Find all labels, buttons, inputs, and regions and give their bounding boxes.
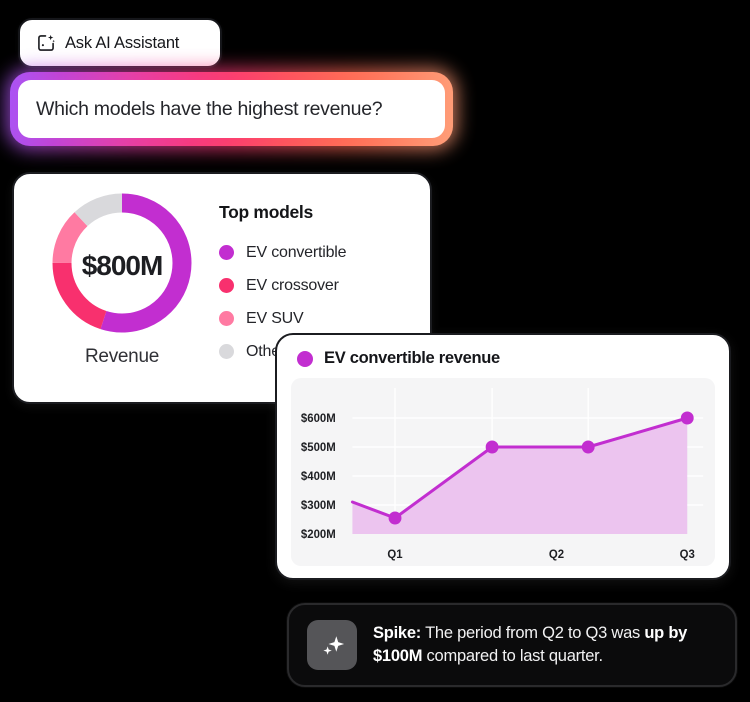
line-chart-header: EV convertible revenue xyxy=(291,349,715,368)
donut-center-value: $800M xyxy=(47,250,197,282)
screenshot-stage: Ask AI Assistant Which models have the h… xyxy=(0,0,750,702)
ai-question-input[interactable]: Which models have the highest revenue? xyxy=(18,80,445,138)
legend-swatch-icon xyxy=(219,245,234,260)
series-swatch-icon xyxy=(297,351,313,367)
ai-question-input-value[interactable]: Which models have the highest revenue? xyxy=(36,98,382,121)
data-point xyxy=(486,441,499,454)
legend-title: Top models xyxy=(219,202,419,223)
data-point xyxy=(681,412,694,425)
line-chart-title: EV convertible revenue xyxy=(324,349,500,368)
ev-convertible-revenue-card: EV convertible revenue xyxy=(275,333,731,580)
x-tick-label: Q2 xyxy=(549,549,564,561)
y-tick-label: $500M xyxy=(301,442,336,454)
x-tick-label: Q3 xyxy=(680,549,695,561)
data-point xyxy=(582,441,595,454)
legend-item-ev-suv[interactable]: EV SUV xyxy=(219,302,419,335)
y-tick-label: $400M xyxy=(301,471,336,483)
revenue-area-chart: $600M $500M $400M $300M $200M Q1 Q2 Q3 xyxy=(291,378,715,566)
donut-caption: Revenue xyxy=(32,346,212,368)
legend-item-ev-crossover[interactable]: EV crossover xyxy=(219,269,419,302)
legend-item-ev-convertible[interactable]: EV convertible xyxy=(219,236,419,269)
legend-swatch-icon xyxy=(219,278,234,293)
legend-swatch-icon xyxy=(219,344,234,359)
sparkle-square-icon xyxy=(36,33,56,53)
insight-text-part1: The period from Q2 to Q3 was xyxy=(421,624,644,642)
y-tick-label: $200M xyxy=(301,529,336,541)
insight-message: Spike: The period from Q2 to Q3 was up b… xyxy=(373,622,717,669)
legend-label: EV SUV xyxy=(246,310,304,328)
insight-label: Spike: xyxy=(373,624,421,642)
ai-question-input-wrapper[interactable]: Which models have the highest revenue? xyxy=(10,72,453,146)
insight-callout: Spike: The period from Q2 to Q3 was up b… xyxy=(287,603,737,687)
y-tick-label: $600M xyxy=(301,413,336,425)
y-tick-label: $300M xyxy=(301,500,336,512)
x-tick-label: Q1 xyxy=(387,549,403,561)
legend-label: EV convertible xyxy=(246,244,346,262)
chart-x-axis-labels: Q1 Q2 Q3 xyxy=(387,549,694,561)
insight-text-part2: compared to last quarter. xyxy=(422,647,603,665)
ask-ai-assistant-label: Ask AI Assistant xyxy=(65,34,179,53)
donut-chart-block: $800M Revenue xyxy=(32,188,212,368)
legend-swatch-icon xyxy=(219,311,234,326)
ask-ai-assistant-button[interactable]: Ask AI Assistant xyxy=(18,18,222,68)
sparkle-icon xyxy=(307,620,357,670)
data-point xyxy=(389,512,402,525)
chart-y-axis-labels: $600M $500M $400M $300M $200M xyxy=(301,413,336,541)
legend-label: EV crossover xyxy=(246,277,339,295)
line-chart-plot-area: $600M $500M $400M $300M $200M Q1 Q2 Q3 xyxy=(291,378,715,566)
